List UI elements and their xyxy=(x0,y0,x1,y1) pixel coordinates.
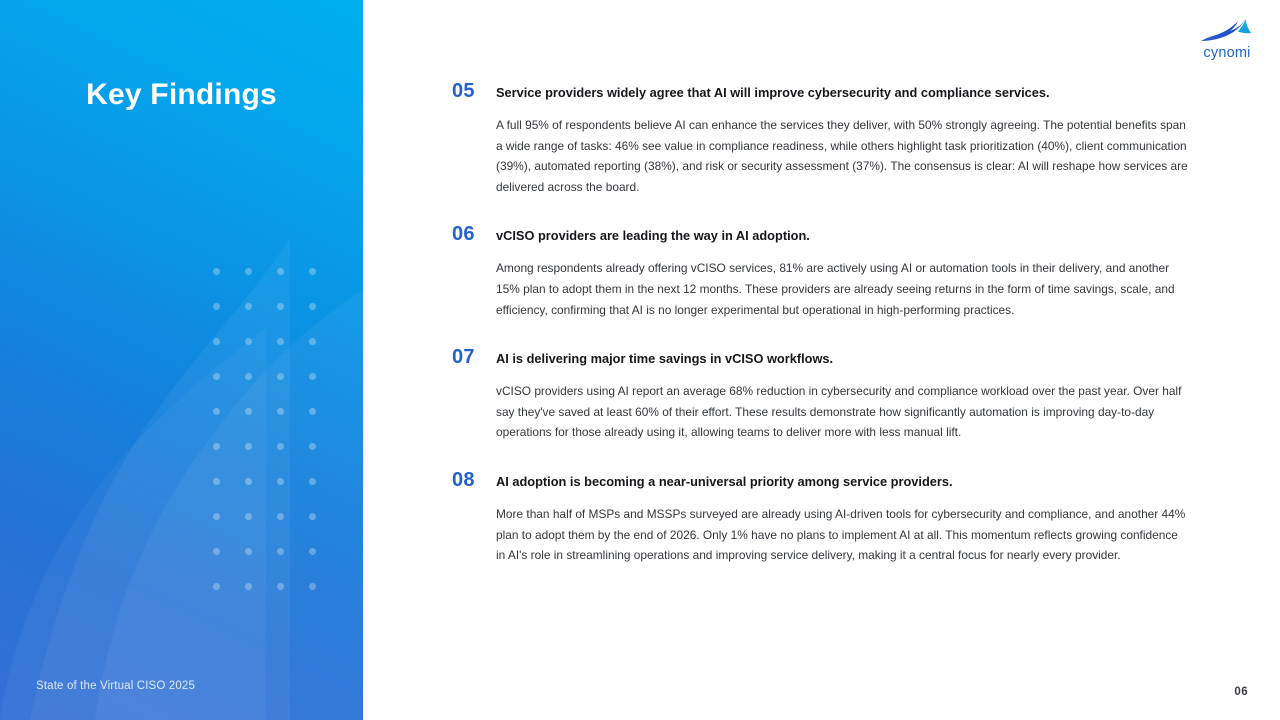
page-number: 06 xyxy=(1234,686,1248,698)
finding-body: Among respondents already offering vCISO… xyxy=(496,258,1188,320)
finding-item: 05 Service providers widely agree that A… xyxy=(452,80,1192,197)
left-title-panel: Key Findings State of the Virtual CISO 2… xyxy=(0,0,363,720)
cynomi-wordmark: cynomi xyxy=(1196,45,1258,61)
finding-item: 06 vCISO providers are leading the way i… xyxy=(452,223,1192,320)
finding-header: 06 vCISO providers are leading the way i… xyxy=(452,223,1192,245)
page-title: Key Findings xyxy=(0,78,363,112)
finding-number: 05 xyxy=(452,80,496,102)
finding-header: 07 AI is delivering major time savings i… xyxy=(452,346,1192,368)
report-footer-label: State of the Virtual CISO 2025 xyxy=(36,680,195,692)
slide: Key Findings State of the Virtual CISO 2… xyxy=(0,0,1280,720)
finding-body: vCISO providers using AI report an avera… xyxy=(496,381,1188,443)
finding-body: More than half of MSPs and MSSPs surveye… xyxy=(496,504,1188,566)
finding-number: 06 xyxy=(452,223,496,245)
finding-title: vCISO providers are leading the way in A… xyxy=(496,226,1192,244)
finding-title: AI is delivering major time savings in v… xyxy=(496,349,1192,367)
finding-title: AI adoption is becoming a near-universal… xyxy=(496,472,1192,490)
finding-body: A full 95% of respondents believe AI can… xyxy=(496,115,1188,197)
finding-title: Service providers widely agree that AI w… xyxy=(496,83,1192,101)
finding-item: 08 AI adoption is becoming a near-univer… xyxy=(452,469,1192,566)
cynomi-logo: cynomi xyxy=(1196,18,1258,61)
decorative-dot-grid xyxy=(213,268,331,560)
finding-number: 07 xyxy=(452,346,496,368)
finding-header: 05 Service providers widely agree that A… xyxy=(452,80,1192,102)
finding-number: 08 xyxy=(452,469,496,491)
findings-list: 05 Service providers widely agree that A… xyxy=(452,80,1192,566)
cynomi-bird-icon xyxy=(1199,18,1255,44)
finding-item: 07 AI is delivering major time savings i… xyxy=(452,346,1192,443)
finding-header: 08 AI adoption is becoming a near-univer… xyxy=(452,469,1192,491)
